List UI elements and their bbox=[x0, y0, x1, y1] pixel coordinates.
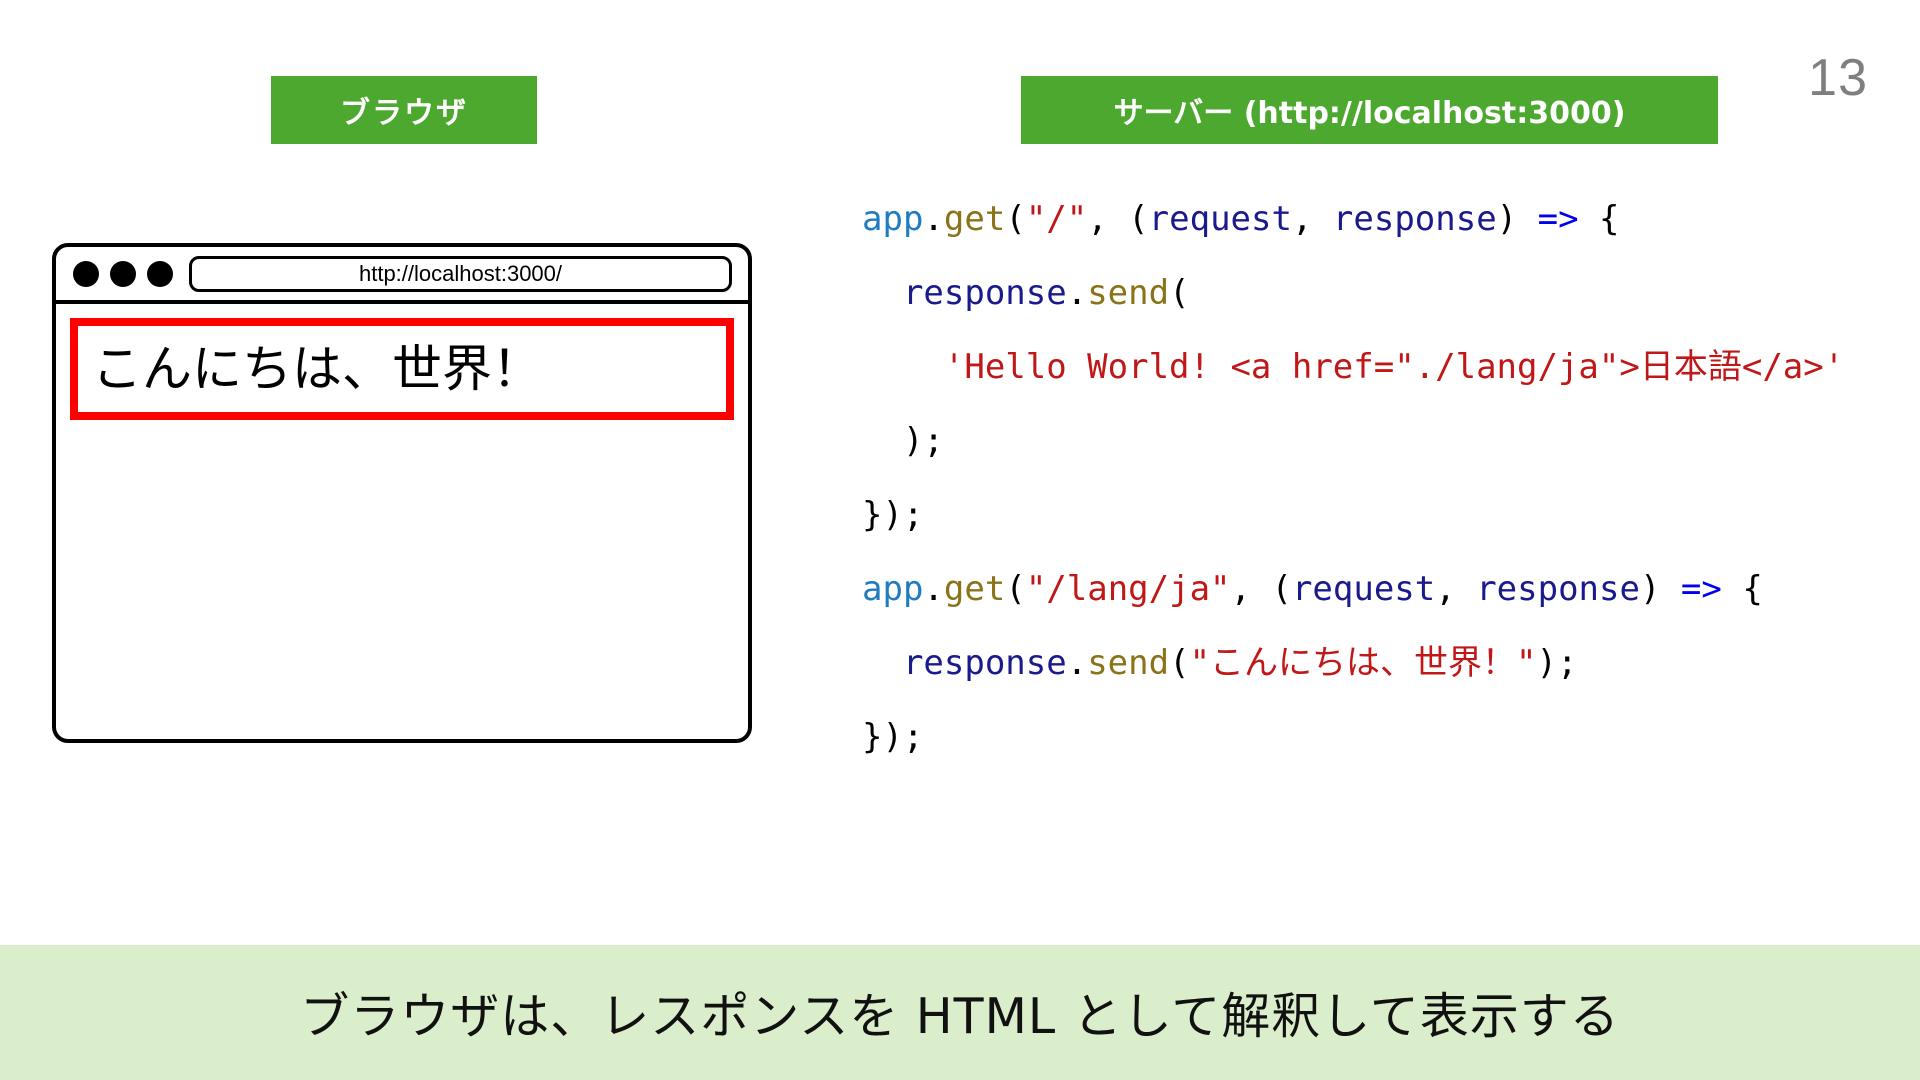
code-token-param: request bbox=[1149, 199, 1292, 239]
code-token-punc: , ( bbox=[1231, 569, 1292, 609]
caption-banner: ブラウザは、レスポンスを HTML として解釈して表示する bbox=[0, 945, 1920, 1080]
code-token-obj: app bbox=[862, 199, 923, 239]
code-line: }); bbox=[862, 700, 1844, 774]
code-token-punc: ( bbox=[1169, 643, 1189, 683]
code-token-punc: , ( bbox=[1087, 199, 1148, 239]
code-token-punc: , bbox=[1292, 199, 1333, 239]
window-dot-icon bbox=[73, 261, 99, 287]
code-line: 'Hello World! <a href="./lang/ja">日本語</a… bbox=[862, 330, 1844, 404]
code-token-strdq: "/lang/ja" bbox=[1026, 569, 1231, 609]
code-token-punc: . bbox=[923, 199, 943, 239]
address-bar[interactable]: http://localhost:3000/ bbox=[189, 256, 732, 292]
caption-text: ブラウザは、レスポンスを HTML として解釈して表示する bbox=[300, 977, 1620, 1048]
code-token-fn: get bbox=[944, 569, 1005, 609]
code-token-strdq: "/" bbox=[1026, 199, 1087, 239]
browser-viewport: こんにちは、世界！ bbox=[56, 304, 748, 735]
address-bar-value: http://localhost:3000/ bbox=[359, 261, 562, 287]
code-token-punc: ( bbox=[1169, 273, 1189, 313]
code-token-punc: , bbox=[1435, 569, 1476, 609]
window-control-dots bbox=[73, 261, 173, 287]
code-line: }); bbox=[862, 478, 1844, 552]
badge-browser-label: ブラウザ bbox=[340, 88, 468, 132]
code-token-fn: send bbox=[1087, 273, 1169, 313]
code-token-arrow: => bbox=[1681, 569, 1722, 609]
code-token-punc: . bbox=[1067, 273, 1087, 313]
code-token-punc: . bbox=[923, 569, 943, 609]
code-token-punc: . bbox=[1067, 643, 1087, 683]
browser-window-mockup: http://localhost:3000/ こんにちは、世界！ bbox=[52, 243, 752, 743]
window-dot-icon bbox=[147, 261, 173, 287]
badge-server-label: サーバー (http://localhost:3000) bbox=[1114, 88, 1626, 132]
browser-chrome: http://localhost:3000/ bbox=[56, 247, 748, 304]
code-token-punc: }); bbox=[862, 717, 923, 757]
code-line: response.send("こんにちは、世界！"); bbox=[862, 626, 1844, 700]
code-token-param: response bbox=[903, 643, 1067, 683]
code-token-str: 'Hello World! <a href="./lang/ja">日本語</a… bbox=[944, 347, 1844, 387]
server-code-block: app.get("/", (request, response) => {res… bbox=[862, 182, 1844, 774]
highlight-box: こんにちは、世界！ bbox=[70, 318, 734, 420]
code-line: app.get("/", (request, response) => { bbox=[862, 182, 1844, 256]
code-token-punc: ); bbox=[903, 421, 944, 461]
code-token-punc: { bbox=[1722, 569, 1763, 609]
code-token-param: request bbox=[1292, 569, 1435, 609]
badge-browser: ブラウザ bbox=[271, 76, 537, 144]
code-line: app.get("/lang/ja", (request, response) … bbox=[862, 552, 1844, 626]
code-token-punc: ( bbox=[1005, 199, 1025, 239]
code-token-obj: app bbox=[862, 569, 923, 609]
code-token-arrow: => bbox=[1538, 199, 1579, 239]
code-token-punc: }); bbox=[862, 495, 923, 535]
badge-server: サーバー (http://localhost:3000) bbox=[1021, 76, 1718, 144]
code-token-fn: get bbox=[944, 199, 1005, 239]
code-token-punc: { bbox=[1579, 199, 1620, 239]
code-token-param: response bbox=[1333, 199, 1497, 239]
window-dot-icon bbox=[110, 261, 136, 287]
code-line: response.send( bbox=[862, 256, 1844, 330]
code-token-punc: ); bbox=[1537, 643, 1578, 683]
code-token-fn: send bbox=[1087, 643, 1169, 683]
rendered-page-text: こんにちは、世界！ bbox=[92, 344, 542, 394]
code-token-punc: ) bbox=[1497, 199, 1538, 239]
code-line: ); bbox=[862, 404, 1844, 478]
code-token-param: response bbox=[1476, 569, 1640, 609]
page-number: 13 bbox=[1808, 52, 1868, 104]
code-token-punc: ( bbox=[1005, 569, 1025, 609]
code-token-strdq: "こんにちは、世界！" bbox=[1190, 643, 1537, 683]
code-token-punc: ) bbox=[1640, 569, 1681, 609]
code-token-param: response bbox=[903, 273, 1067, 313]
